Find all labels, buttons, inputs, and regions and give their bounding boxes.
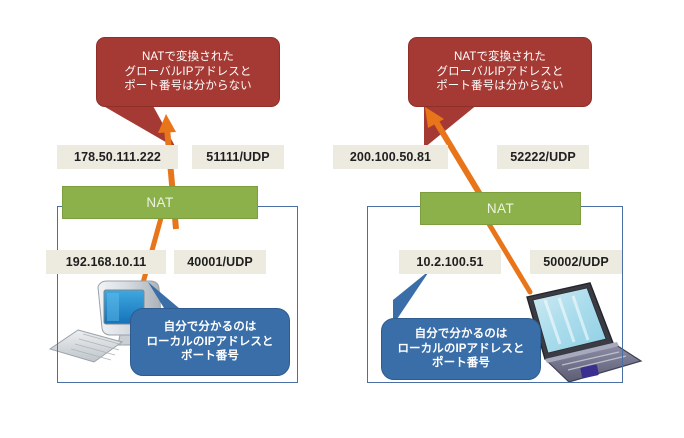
left-global-port-tag: 51111/UDP [192, 145, 284, 169]
left-local-ip-value: 192.168.10.11 [66, 255, 147, 269]
left-blue-callout: 自分で分かるのは ローカルのIPアドレスと ポート番号 [130, 308, 290, 376]
right-red-callout-line-2: グローバルIPアドレスと [437, 65, 564, 80]
right-blue-callout-line-3: ポート番号 [432, 356, 490, 371]
diagram-canvas: NAT NAT 178.50.111.222 51111/UDP 192.168… [0, 0, 684, 438]
right-global-ip-tag: 200.100.50.81 [333, 145, 448, 169]
left-nat-label: NAT [146, 195, 173, 210]
right-red-callout: NATで変換された グローバルIPアドレスと ポート番号は分からない [408, 37, 592, 107]
left-global-ip-tag: 178.50.111.222 [57, 145, 178, 169]
right-blue-callout: 自分で分かるのは ローカルのIPアドレスと ポート番号 [381, 318, 541, 380]
left-red-callout-line-2: グローバルIPアドレスと [125, 65, 252, 80]
left-red-callout-line-1: NATで変換された [142, 50, 234, 65]
right-global-port-value: 52222/UDP [510, 150, 576, 164]
left-local-port-tag: 40001/UDP [174, 250, 266, 274]
left-red-callout: NATで変換された グローバルIPアドレスと ポート番号は分からない [96, 37, 280, 107]
left-nat-box[interactable]: NAT [62, 186, 258, 219]
right-local-port-tag: 50002/UDP [530, 250, 622, 274]
left-local-ip-tag: 192.168.10.11 [46, 250, 166, 274]
right-blue-callout-line-1: 自分で分かるのは [415, 327, 508, 342]
right-red-callout-line-1: NATで変換された [454, 50, 546, 65]
right-red-callout-line-3: ポート番号は分からない [436, 79, 564, 94]
left-blue-callout-line-1: 自分で分かるのは [164, 320, 257, 335]
right-nat-box[interactable]: NAT [420, 192, 581, 225]
right-local-port-value: 50002/UDP [543, 255, 609, 269]
right-global-ip-value: 200.100.50.81 [350, 150, 431, 164]
left-global-port-value: 51111/UDP [206, 150, 269, 164]
right-local-ip-value: 10.2.100.51 [416, 255, 483, 269]
right-local-ip-tag: 10.2.100.51 [399, 250, 501, 274]
left-blue-callout-line-3: ポート番号 [181, 349, 239, 364]
right-blue-callout-line-2: ローカルのIPアドレスと [397, 342, 524, 357]
left-local-port-value: 40001/UDP [187, 255, 253, 269]
left-global-ip-value: 178.50.111.222 [74, 150, 161, 164]
right-nat-label: NAT [487, 201, 514, 216]
right-global-port-tag: 52222/UDP [497, 145, 589, 169]
left-blue-callout-line-2: ローカルのIPアドレスと [146, 335, 273, 350]
left-red-callout-line-3: ポート番号は分からない [124, 79, 252, 94]
